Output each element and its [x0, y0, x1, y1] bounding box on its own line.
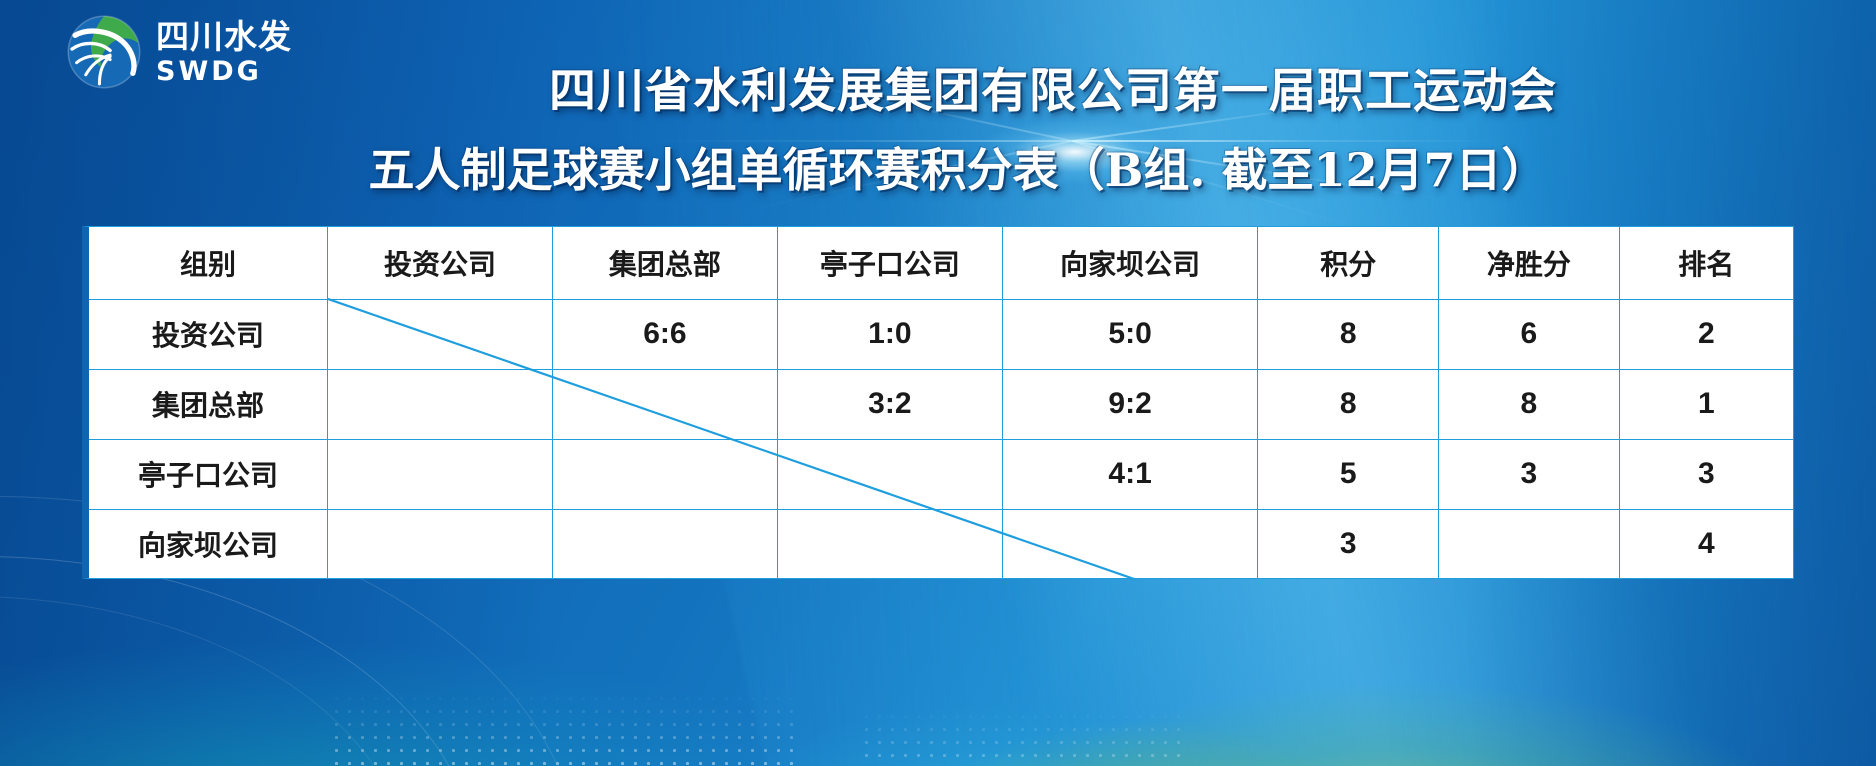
brand-name-cn: 四川水发: [156, 20, 292, 54]
decorative-dot-pattern: [860, 710, 1190, 766]
points-cell: 5: [1258, 439, 1439, 509]
rank-cell: 2: [1619, 299, 1793, 369]
rank-cell: 3: [1619, 439, 1793, 509]
rank-cell: 4: [1619, 509, 1793, 579]
table-row: 集团总部 3:2 9:2 8 8 1: [89, 369, 1793, 439]
table-row: 亭子口公司 4:1 5 3 3: [89, 439, 1793, 509]
column-header-goal-diff: 净胜分: [1439, 227, 1620, 299]
table-row: 向家坝公司 3 4: [89, 509, 1793, 579]
page-subtitle: 五人制足球赛小组单循环赛积分表（B组. 截至12月7日）: [329, 134, 1548, 200]
row-team-name: 集团总部: [89, 369, 328, 439]
score-cell: [777, 439, 1002, 509]
score-cell: 4:1: [1002, 439, 1258, 509]
column-header-xiangjiaba: 向家坝公司: [1002, 227, 1258, 299]
score-cell: [552, 509, 777, 579]
points-cell: 8: [1258, 299, 1439, 369]
standings-table: 组别 投资公司 集团总部 亭子口公司 向家坝公司 积分 净胜分 排名 投资公司 …: [89, 227, 1793, 579]
score-cell: 9:2: [1002, 369, 1258, 439]
points-cell: 8: [1258, 369, 1439, 439]
row-team-name: 亭子口公司: [89, 439, 328, 509]
score-cell: [328, 369, 553, 439]
table-header-row: 组别 投资公司 集团总部 亭子口公司 向家坝公司 积分 净胜分 排名: [89, 227, 1793, 299]
score-cell: 3:2: [777, 369, 1002, 439]
column-header-investment: 投资公司: [328, 227, 553, 299]
score-cell: [552, 439, 777, 509]
table-row: 投资公司 6:6 1:0 5:0 8 6 2: [89, 299, 1793, 369]
row-team-name: 投资公司: [89, 299, 328, 369]
goal-diff-cell: [1439, 509, 1620, 579]
score-cell: 5:0: [1002, 299, 1258, 369]
score-cell: [328, 509, 553, 579]
standings-table-container: 组别 投资公司 集团总部 亭子口公司 向家坝公司 积分 净胜分 排名 投资公司 …: [82, 226, 1794, 579]
score-cell: 1:0: [777, 299, 1002, 369]
decorative-dot-pattern: [330, 692, 800, 766]
score-cell: [328, 439, 553, 509]
column-header-tingzikou: 亭子口公司: [777, 227, 1002, 299]
score-cell: [552, 369, 777, 439]
score-cell: [777, 509, 1002, 579]
row-team-name: 向家坝公司: [89, 509, 328, 579]
column-header-rank: 排名: [1619, 227, 1793, 299]
score-cell: [1002, 509, 1258, 579]
score-cell: 6:6: [552, 299, 777, 369]
header-subtitle-area: 五人制足球赛小组单循环赛积分表（B组. 截至12月7日）: [0, 134, 1876, 200]
points-cell: 3: [1258, 509, 1439, 579]
goal-diff-cell: 3: [1439, 439, 1620, 509]
score-cell: [328, 299, 553, 369]
column-header-points: 积分: [1258, 227, 1439, 299]
column-header-hq: 集团总部: [552, 227, 777, 299]
rank-cell: 1: [1619, 369, 1793, 439]
column-header-group: 组别: [89, 227, 328, 299]
header-title-area: 四川省水利发展集团有限公司第一届职工运动会: [0, 52, 1876, 121]
goal-diff-cell: 8: [1439, 369, 1620, 439]
goal-diff-cell: 6: [1439, 299, 1620, 369]
page-title: 四川省水利发展集团有限公司第一届职工运动会: [319, 52, 1557, 121]
